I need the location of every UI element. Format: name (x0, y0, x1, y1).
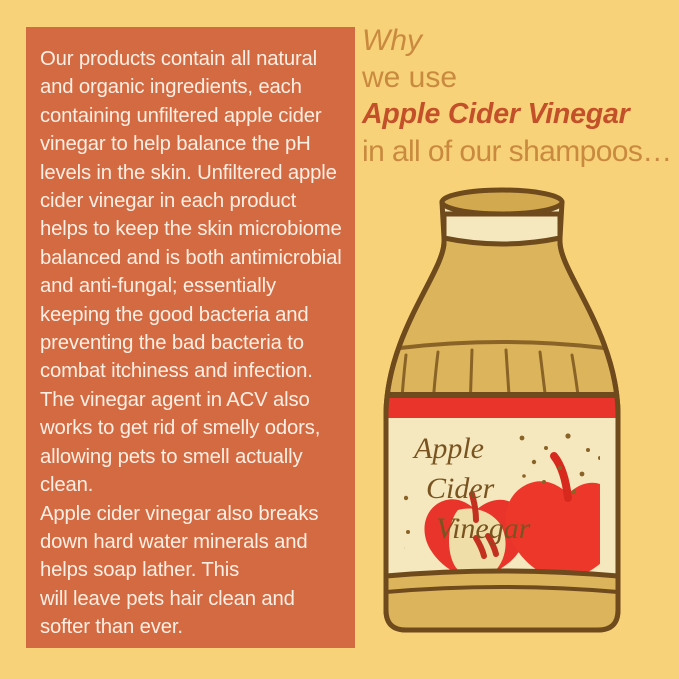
bottle-base-band (386, 571, 618, 632)
headline-line-3-accent: Apple Cider Vinegar (362, 96, 679, 133)
label-text-vinegar: Vinegar (436, 512, 531, 545)
body-paragraph-4: will leave pets hair clean and softer th… (40, 585, 345, 642)
acv-bottle-illustration: Apple Cider Vinegar (372, 180, 632, 670)
bottle-cap (442, 190, 562, 244)
headline-line-1: Why (362, 22, 679, 59)
body-paragraph-3: Apple cider vinegar also breaks down har… (40, 500, 345, 585)
headline-line-2: we use (362, 59, 679, 96)
label-text-apple: Apple (412, 432, 484, 465)
headline-line-4: in all of our shampoos… (362, 133, 679, 170)
body-paragraph-2: The vinegar agent in ACV also works to g… (40, 386, 345, 500)
label-text-cider: Cider (426, 472, 495, 505)
body-text-panel: Our products contain all natural and org… (26, 27, 355, 648)
headline-block: Why we use Apple Cider Vinegar in all of… (362, 22, 679, 170)
poster-canvas: Our products contain all natural and org… (0, 0, 679, 679)
body-paragraph-1: Our products contain all natural and org… (40, 45, 345, 386)
bottle-drawing: Apple Cider Vinegar (372, 180, 632, 670)
